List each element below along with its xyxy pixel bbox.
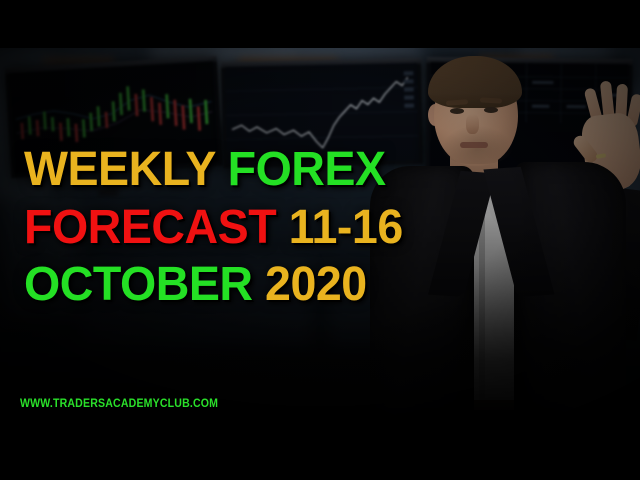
headline-word-dates: 11-16	[289, 201, 403, 254]
eye	[484, 107, 498, 113]
headline-word-october: OCTOBER	[24, 258, 253, 311]
nose	[466, 114, 479, 134]
mouth	[460, 142, 488, 148]
headline-line-3: OCTOBER 2020	[24, 263, 403, 308]
headline-block: WEEKLY FOREX FORECAST 11-16 OCTOBER 2020	[24, 148, 414, 308]
headline-word-year: 2020	[265, 258, 367, 311]
shirt-placket	[479, 208, 485, 408]
website-url[interactable]: WWW.TRADERSACADEMYCLUB.COM	[20, 396, 218, 410]
headline-word-forecast: FORECAST	[24, 201, 276, 254]
eyebrow	[480, 97, 502, 103]
presenter-hair	[428, 56, 522, 108]
headline-line-2: FORECAST 11-16	[24, 206, 403, 251]
letterbox-bar-bottom	[0, 430, 640, 480]
letterbox-bar-top	[0, 0, 640, 48]
video-thumbnail: WEEKLY FOREX FORECAST 11-16 OCTOBER 2020…	[0, 0, 640, 480]
headline-word-weekly: WEEKLY	[24, 143, 215, 196]
headline-word-forex: FOREX	[228, 143, 386, 196]
eye	[450, 108, 464, 114]
headline-line-1: WEEKLY FOREX	[24, 148, 403, 193]
